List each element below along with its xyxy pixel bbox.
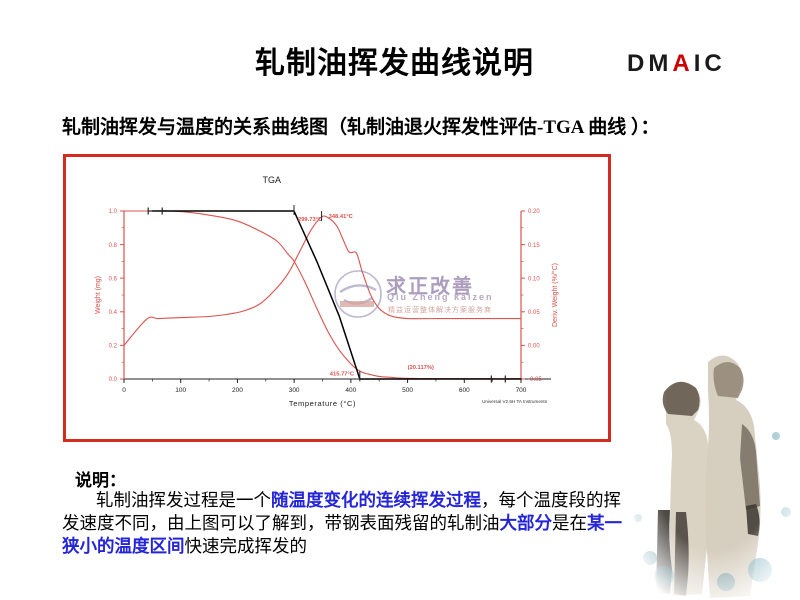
dmaic-letter-c: C — [704, 50, 725, 77]
y-tick-label-left: 0.8 — [109, 243, 118, 249]
x-tick-label: 700 — [516, 387, 527, 394]
explanation-part-1: 轧制油挥发过程是一个 — [96, 490, 271, 510]
y-tick-label-right: 0.05 — [528, 310, 540, 316]
x-tick-label: 500 — [402, 387, 413, 394]
tga-chart: TGA0100200300400500600700Temperature (°C… — [66, 157, 608, 439]
decorative-illustration — [630, 332, 798, 598]
x-tick-label: 100 — [175, 387, 186, 394]
y-tick-label-left: 0.2 — [109, 344, 118, 350]
chart-footer-note: Universal V2.5H TA Instruments — [482, 399, 548, 404]
x-tick-label: 600 — [459, 387, 470, 394]
onset-temperature-annotation: 299.73°C — [298, 217, 323, 223]
y-tick-label-right: 0.15 — [528, 243, 540, 249]
dmaic-letter-d: D — [627, 50, 648, 77]
weight-loss-percent-annotation: (20.117%) — [408, 365, 434, 371]
chart-title: TGA — [263, 175, 282, 185]
series-weight-tga — [124, 211, 521, 379]
y-tick-label-left: 1.0 — [109, 209, 118, 215]
dmaic-letter-m: M — [648, 50, 672, 77]
y-tick-label-left: 0.0 — [109, 377, 118, 383]
two-figures-sketch-icon — [630, 332, 798, 598]
y-tick-label-left: 0.6 — [109, 276, 118, 282]
explanation-highlight-1: 随温度变化的连续挥发过程 — [271, 490, 481, 510]
x-tick-label: 0 — [122, 387, 126, 394]
x-tick-label: 200 — [232, 387, 243, 394]
dmaic-badge: DMAIC — [627, 50, 726, 78]
tga-chart-frame: TGA0100200300400500600700Temperature (°C… — [63, 154, 611, 442]
x-axis-label: Temperature (°C) — [289, 399, 356, 408]
dmaic-letter-i: I — [694, 50, 705, 77]
explanation-label: 说明： — [75, 466, 126, 491]
explanation-part-3: 是在 — [552, 513, 587, 533]
x-tick-label: 400 — [345, 387, 356, 394]
endset-temperature-annotation: 415.77°C — [330, 371, 355, 377]
y-tick-label-right: 0.10 — [528, 276, 540, 282]
y-tick-label-right: 0.00 — [528, 344, 540, 350]
explanation-highlight-2: 大部分 — [500, 513, 553, 533]
explanation-part-4: 快速完成挥发的 — [185, 536, 308, 556]
y-tick-label-right: -0.05 — [528, 377, 542, 383]
y-axis-label-left: Weight (mg) — [95, 276, 102, 314]
y-tick-label-left: 0.4 — [109, 310, 118, 316]
y-tick-label-right: 0.20 — [528, 209, 540, 215]
series-tangent-onset-endset — [152, 211, 521, 379]
explanation-body: 轧制油挥发过程是一个随温度变化的连续挥发过程，每个温度段的挥发速度不同，由上图可… — [62, 489, 634, 558]
page-title: 轧制油挥发曲线说明 — [255, 38, 534, 82]
series-derivative-weight — [124, 216, 521, 345]
subtitle: 轧制油挥发与温度的关系曲线图（轧制油退火挥发性评估-TGA 曲线 ）： — [62, 112, 659, 139]
peak-temperature-annotation: 348.41°C — [329, 214, 354, 220]
y-axis-label-right: Deriv. Weight (%/°C) — [551, 263, 559, 327]
dmaic-letter-a: A — [672, 50, 693, 77]
x-tick-label: 300 — [289, 387, 300, 394]
